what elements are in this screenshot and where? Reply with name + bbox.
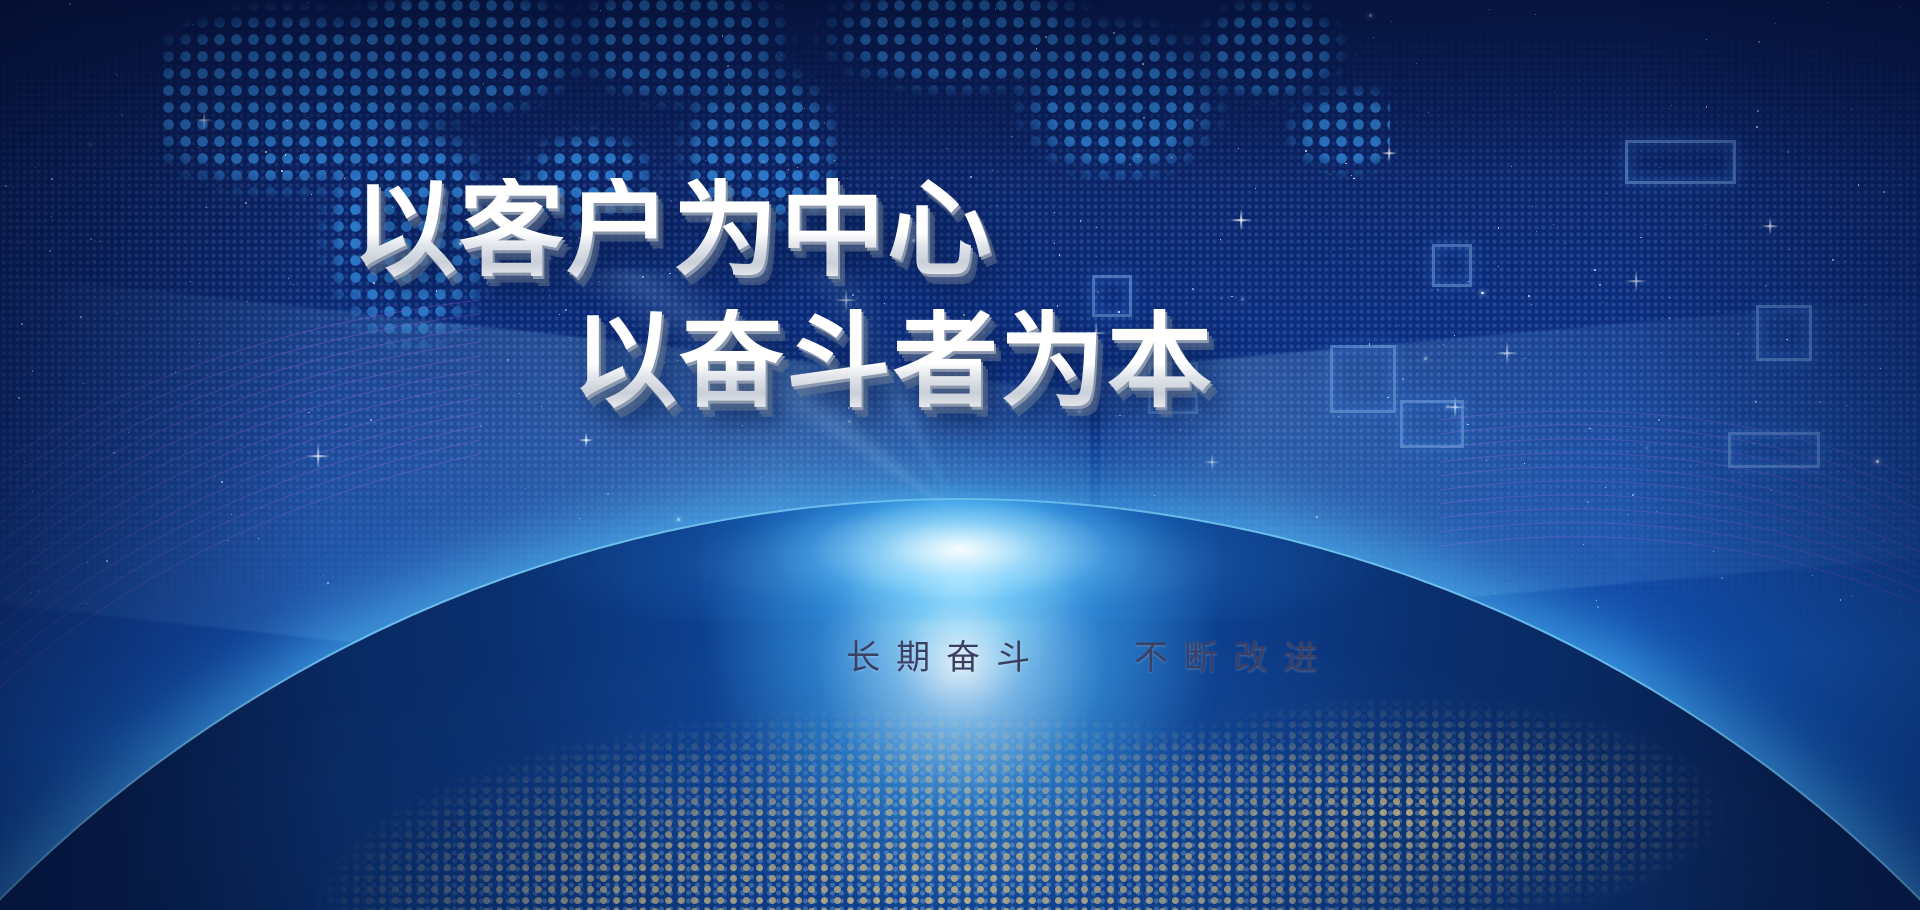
deco-square-2 <box>1432 244 1472 287</box>
banner-canvas: 以客户为中心 以奋斗者为本 长期奋斗 不断改进 <box>0 0 1920 910</box>
terrain-overlay <box>0 580 1920 910</box>
deco-rect-1 <box>1625 140 1736 184</box>
earth-globe <box>0 350 1920 910</box>
deco-square-4 <box>1092 275 1132 317</box>
halftone-world-map-icon <box>160 0 1390 380</box>
